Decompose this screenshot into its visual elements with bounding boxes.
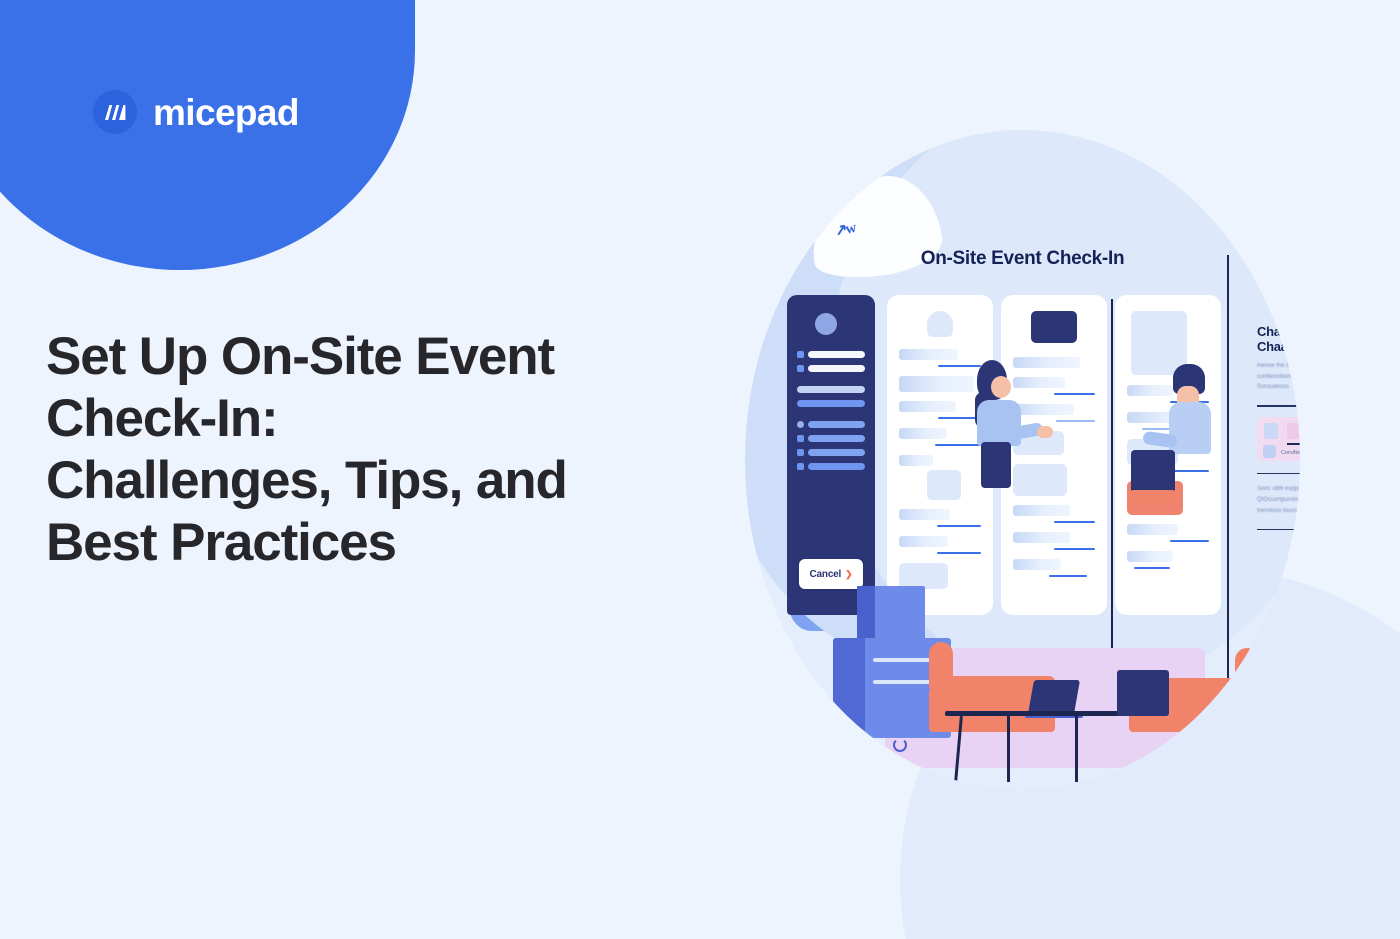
- table-leg: [1075, 716, 1078, 782]
- aside-heading-line-1: Challeges: [1257, 325, 1300, 340]
- cabinet-handle-1: [873, 658, 937, 662]
- nav-item-label: [808, 463, 865, 470]
- nav-item-label: [808, 365, 865, 372]
- nav-item[interactable]: [797, 449, 865, 456]
- square-bullet-icon: [797, 449, 804, 456]
- nav-item-label: [808, 351, 865, 358]
- nav-item[interactable]: [797, 421, 865, 428]
- page-title-line-1: Set Up On-Site Event: [46, 326, 736, 388]
- nav-item-label: [808, 421, 865, 428]
- nav-item[interactable]: [797, 463, 865, 470]
- illustration-title: On-Site Event Check-In: [745, 248, 1300, 270]
- list-item: [899, 509, 981, 527]
- nav-item[interactable]: [797, 435, 865, 442]
- nav-item[interactable]: [797, 400, 865, 407]
- list-item: [1013, 357, 1095, 368]
- list-item: [1013, 532, 1095, 550]
- square-bullet-icon: [797, 435, 804, 442]
- swatch-chip-blue: [1264, 423, 1278, 439]
- swatch-caption: Cerv/ltenLusoeopexs: [1281, 450, 1300, 456]
- list-item: [1013, 464, 1095, 496]
- list-item: [1127, 524, 1209, 542]
- nav-item[interactable]: [797, 351, 865, 358]
- cabinet-top-box: [857, 586, 925, 642]
- challenges-aside: Challeges Chaalenes Renoe fhe ts tnmows …: [1257, 325, 1300, 540]
- brand-blob-shape: [0, 0, 415, 270]
- list-item: [1013, 404, 1095, 422]
- list-item: [1013, 377, 1095, 395]
- nav-item[interactable]: [797, 365, 865, 372]
- aside-divider-mid: [1257, 473, 1300, 475]
- badge-scanner-icon: [1031, 311, 1077, 343]
- aside-body-text: Renoe fhe ts tnmows wnos nel cunbenckion…: [1257, 361, 1300, 393]
- list-item: [899, 401, 981, 419]
- page-title-line-4: Best Practices: [46, 512, 736, 574]
- leaf-squiggle-icon: ↗w: [833, 218, 856, 241]
- swatch-chip-pink: [1287, 423, 1300, 439]
- color-swatch-block: Cerv/ltenLusoeopexs: [1257, 417, 1300, 461]
- square-bullet-icon: [797, 365, 804, 372]
- page-title-line-2: Check-In:: [46, 388, 736, 450]
- laptop-icon: [1028, 680, 1080, 714]
- list-item: [899, 455, 981, 500]
- page-title: Set Up On-Site Event Check-In: Challenge…: [46, 326, 736, 574]
- square-bullet-icon: [797, 463, 804, 470]
- monitor-icon: [1117, 670, 1169, 716]
- swatch-rule-1: [1287, 443, 1300, 445]
- table-leg: [1007, 716, 1010, 782]
- user-avatar-icon: [815, 313, 837, 335]
- aside-heading-line-2: Chaalenes: [1257, 340, 1300, 355]
- nav-item[interactable]: [797, 386, 865, 393]
- hero-illustration: ↗w On-Site Event Check-In: [745, 130, 1300, 790]
- aside-divider-top: [1257, 405, 1300, 407]
- page-title-line-3: Challenges, Tips, and: [46, 450, 736, 512]
- nav-item-label: [808, 435, 865, 442]
- list-item: [899, 349, 981, 367]
- swatch-badge-icon: [1263, 445, 1276, 458]
- list-item: [899, 428, 981, 446]
- square-bullet-icon: [797, 351, 804, 358]
- poster-canvas: micepad Set Up On-Site Event Check-In: C…: [0, 0, 1400, 939]
- round-bullet-icon: [797, 421, 804, 428]
- aside-divider-bottom: [1257, 529, 1300, 531]
- table-top: [945, 711, 1137, 716]
- nav-item-label: [808, 449, 865, 456]
- aside-footer-text: Siorc uttlfi exppand Soarn oe/tiorcol QI…: [1257, 484, 1300, 516]
- list-item: [1013, 505, 1095, 523]
- nav-item-label: [797, 400, 865, 407]
- person-badge-icon: [927, 311, 953, 337]
- nav-item-label: [797, 386, 865, 393]
- shield-doc-icon: [1013, 464, 1067, 496]
- desk-scene: [745, 550, 1300, 790]
- document-chat-icon: [927, 470, 961, 500]
- cabinet-caster-icon: [893, 738, 907, 752]
- brand-wordmark: micepad: [153, 94, 299, 131]
- micepad-m-logo-icon: [93, 90, 137, 134]
- list-item: [899, 376, 981, 392]
- cabinet-handle-2: [873, 680, 937, 684]
- brand-lockup[interactable]: micepad: [93, 90, 299, 134]
